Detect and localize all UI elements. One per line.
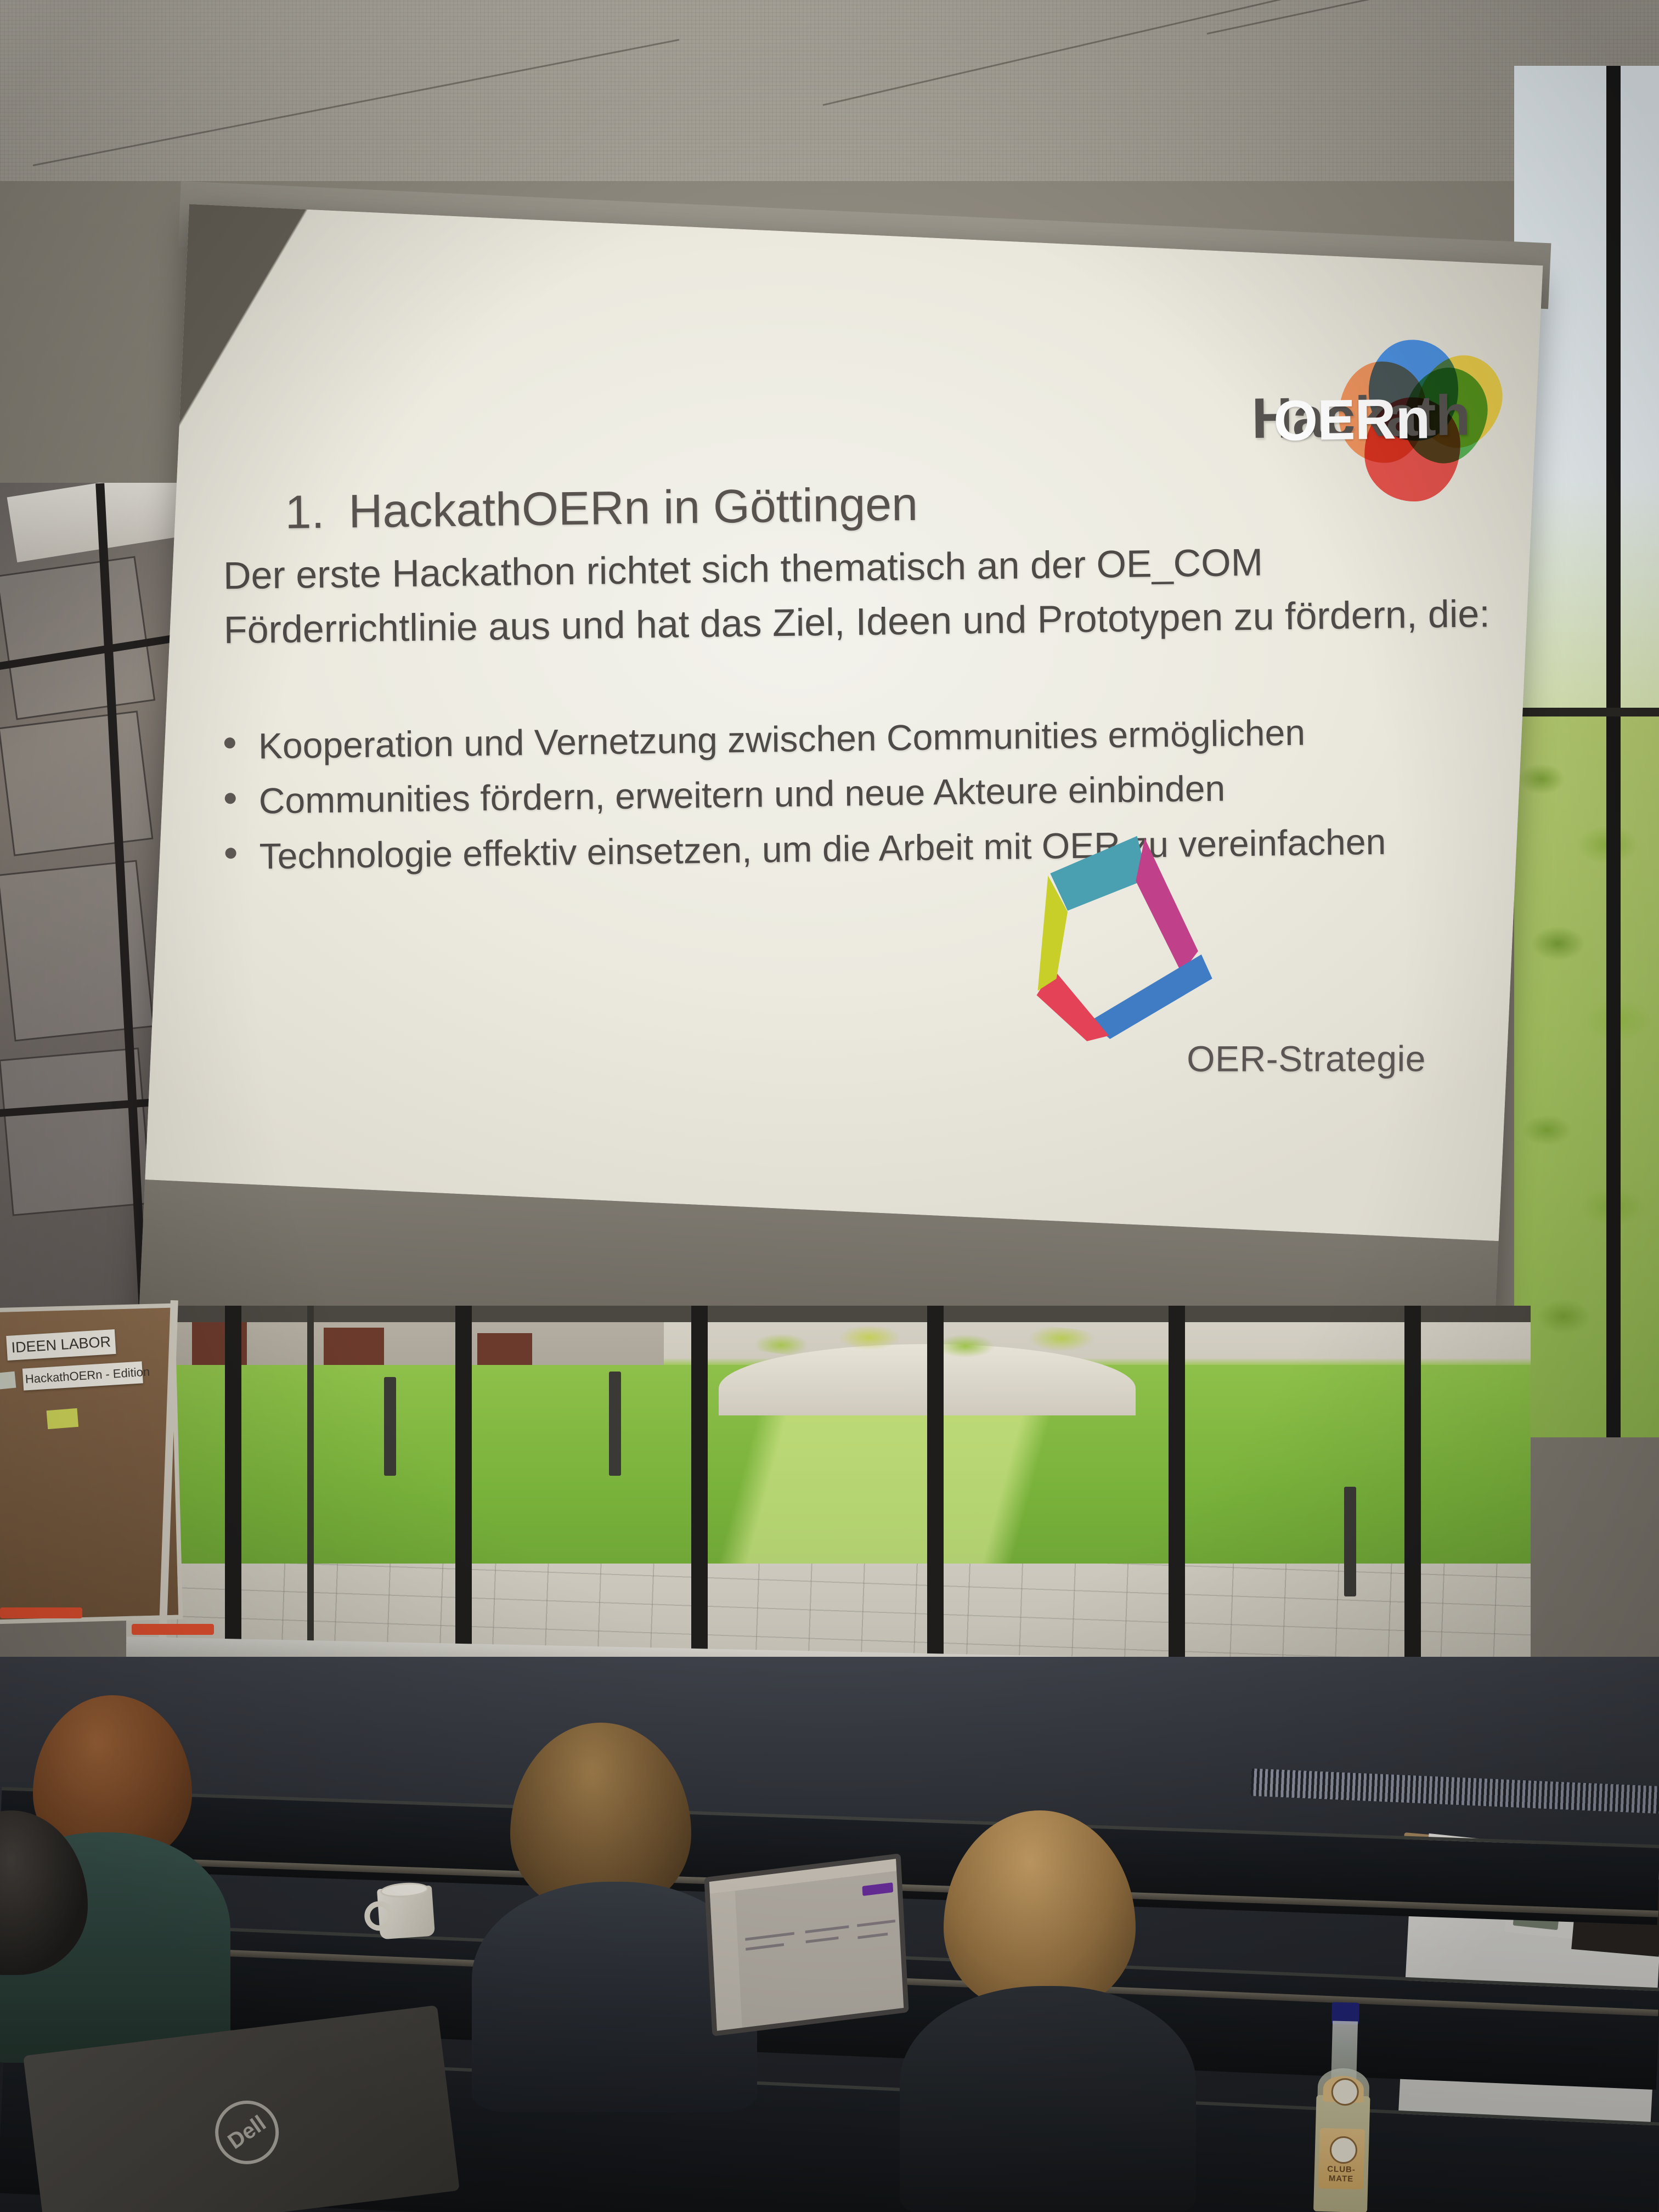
- pinboard-sign-primary: IDEEN LABOR: [6, 1329, 116, 1361]
- oer-strategie-logo: OER-Strategie: [1017, 814, 1374, 1121]
- oer-strategie-pentagon-icon: [1017, 814, 1248, 1045]
- projected-slide: Hackath OERn 1.HackathOERn in Göttingen: [145, 204, 1543, 1241]
- dell-logo: Dell: [202, 2088, 291, 2177]
- oer-strategie-label: OER-Strategie: [1187, 1037, 1426, 1079]
- pinboard-foot: [132, 1624, 214, 1635]
- slide-title-number: 1.: [285, 486, 325, 539]
- slide-title-text: HackathOERn in Göttingen: [348, 478, 918, 538]
- open-laptop[interactable]: [704, 1853, 909, 2036]
- club-mate-bottle[interactable]: CLUB-MATE: [1311, 2002, 1375, 2212]
- pinboard-foot: [0, 1607, 82, 1618]
- courtyard-window-wall: [126, 1306, 1531, 1679]
- pinboard-sign-secondary: HackathOERn - Edition: [22, 1361, 143, 1390]
- pinboard: IDEEN LABOR HackathOERn - Edition: [0, 1304, 183, 1624]
- photo-scene: Hackath OERn 1.HackathOERn in Göttingen: [0, 0, 1659, 2212]
- club-mate-label: CLUB-MATE: [1318, 2164, 1364, 2184]
- hackathoern-blob-icon: OERn: [1335, 337, 1506, 503]
- coffee-mug[interactable]: [377, 1886, 435, 1940]
- slide-title: 1.HackathOERn in Göttingen: [285, 477, 918, 540]
- slide-paragraph: Der erste Hackathon richtet sich themati…: [223, 532, 1503, 658]
- hackathoern-logo: Hackath OERn: [1249, 333, 1506, 502]
- hackathoern-logo-text-light: OERn: [1273, 387, 1430, 454]
- projection-screen: Hackath OERn 1.HackathOERn in Göttingen: [135, 204, 1543, 1460]
- audience-body: [900, 1986, 1196, 2212]
